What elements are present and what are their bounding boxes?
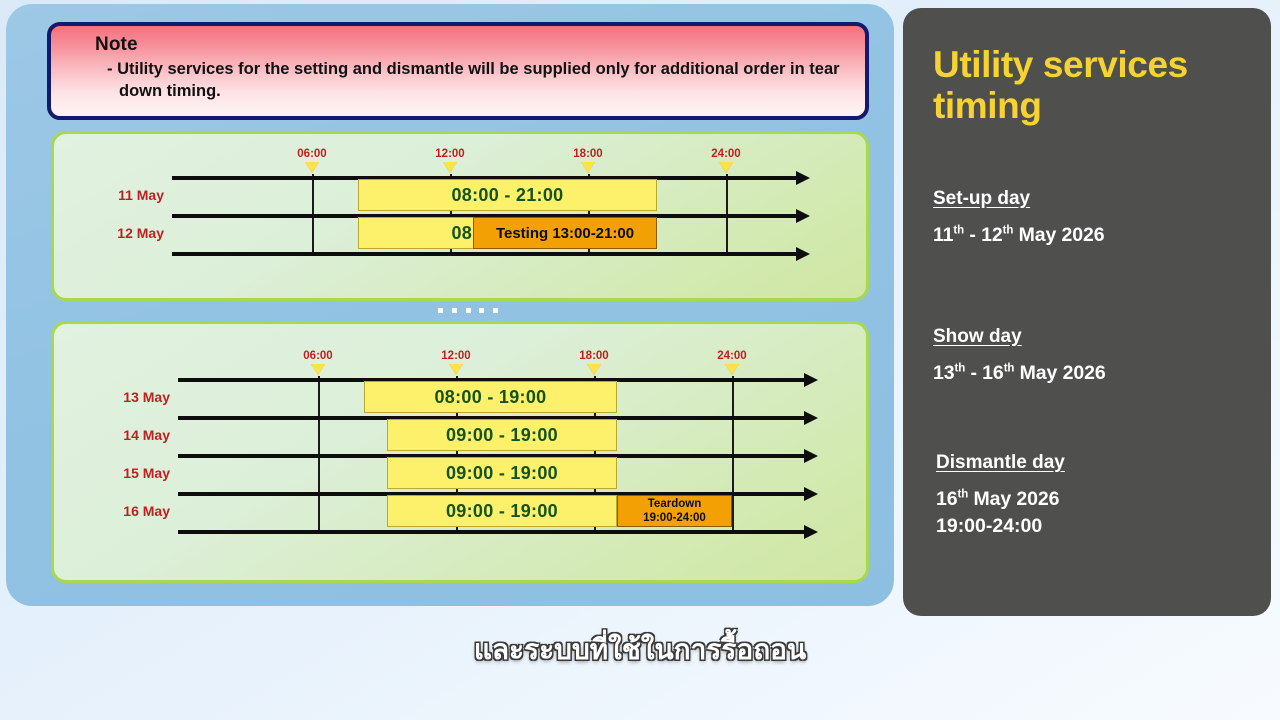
timeline-bar: 09:00 - 19:00 [387, 457, 617, 489]
timeline-day-label: 14 May [100, 427, 170, 443]
sidebar-section-setup-day: Set-up day 11th - 12th May 2026 [933, 188, 1105, 247]
axis-tick-label: 06:00 [303, 350, 332, 362]
timeline-day-label: 16 May [100, 503, 170, 519]
timeline-bar: 09:00 - 19:00 [387, 495, 617, 527]
timeline-axis-line [172, 252, 796, 256]
overlay-label-line2: 19:00-24:00 [643, 511, 706, 525]
sidebar-date-setup: 11th - 12th May 2026 [933, 224, 1105, 247]
timeline-bar: 08:00 - 19:00 [364, 381, 617, 413]
timeline-day-label: 12 May [94, 225, 164, 241]
axis-tick-label: 12:00 [435, 148, 464, 160]
axis-tick-marker-icon [587, 364, 601, 375]
page-title: Utility services timing [933, 44, 1243, 127]
sidebar-date-dismantle: 16th May 2026 [936, 488, 1065, 511]
axis-tick-label: 18:00 [579, 350, 608, 362]
axis-tick-marker-icon [725, 364, 739, 375]
note-title: Note [95, 34, 851, 56]
note-box: Note - Utility services for the setting … [47, 22, 869, 120]
timeline-arrow-icon [804, 373, 818, 387]
timeline-bar: 08:00 - 21:00 [358, 179, 657, 211]
timeline-overlay-bar: Teardown19:00-24:00 [617, 495, 732, 527]
sidebar-section-show-day: Show day 13th - 16th May 2026 [933, 326, 1106, 385]
axis-tick-marker-icon [305, 162, 319, 173]
axis-tick-marker-icon [443, 162, 457, 173]
video-subtitle: และระบบที่ใช้ในการรื้อถอน [0, 628, 1280, 672]
timeline-arrow-icon [796, 209, 810, 223]
timeline-arrow-icon [804, 487, 818, 501]
sidebar-panel: Utility services timing Set-up day 11th … [903, 8, 1271, 616]
axis-tick-label: 24:00 [711, 148, 740, 160]
timeline-day-label: 15 May [100, 465, 170, 481]
timeline-day-label: 11 May [94, 187, 164, 203]
axis-tick-marker-icon [449, 364, 463, 375]
left-content-panel: Note - Utility services for the setting … [6, 4, 894, 606]
timeline-overlay-bar: Testing 13:00-21:00 [473, 217, 657, 249]
timeline-arrow-icon [804, 525, 818, 539]
axis-tick-label: 24:00 [717, 350, 746, 362]
timeline-axis-line [178, 530, 804, 534]
axis-tick-marker-icon [581, 162, 595, 173]
axis-tick-label: 18:00 [573, 148, 602, 160]
ellipsis-separator [438, 302, 498, 318]
sidebar-heading-show: Show day [933, 326, 1106, 348]
sidebar-heading-setup: Set-up day [933, 188, 1105, 210]
time-axis-2: 06:0012:0018:0024:00 [54, 324, 866, 580]
timeline-arrow-icon [804, 411, 818, 425]
timeline-arrow-icon [796, 247, 810, 261]
overlay-label-line1: Teardown [648, 497, 701, 511]
axis-tick-label: 06:00 [297, 148, 326, 160]
timeline-bar: 09:00 - 19:00 [387, 419, 617, 451]
overlay-label-line1: Testing 13:00-21:00 [496, 225, 634, 242]
axis-tick-marker-icon [719, 162, 733, 173]
sidebar-heading-dismantle: Dismantle day [936, 452, 1065, 474]
timeline-day-label: 13 May [100, 389, 170, 405]
sidebar-date-show: 13th - 16th May 2026 [933, 362, 1106, 385]
note-body-text: - Utility services for the setting and d… [95, 59, 855, 103]
sidebar-section-dismantle-day: Dismantle day 16th May 2026 19:00-24:00 [936, 452, 1065, 538]
axis-tick-marker-icon [311, 364, 325, 375]
timeline-chart-show-days: 06:0012:0018:0024:00 13 May08:00 - 19:00… [51, 321, 869, 583]
sidebar-time-dismantle: 19:00-24:00 [936, 515, 1065, 538]
axis-tick-label: 12:00 [441, 350, 470, 362]
timeline-arrow-icon [796, 171, 810, 185]
timeline-arrow-icon [804, 449, 818, 463]
timeline-chart-setup-days: 06:0012:0018:0024:00 11 May08:00 - 21:00… [51, 131, 869, 301]
